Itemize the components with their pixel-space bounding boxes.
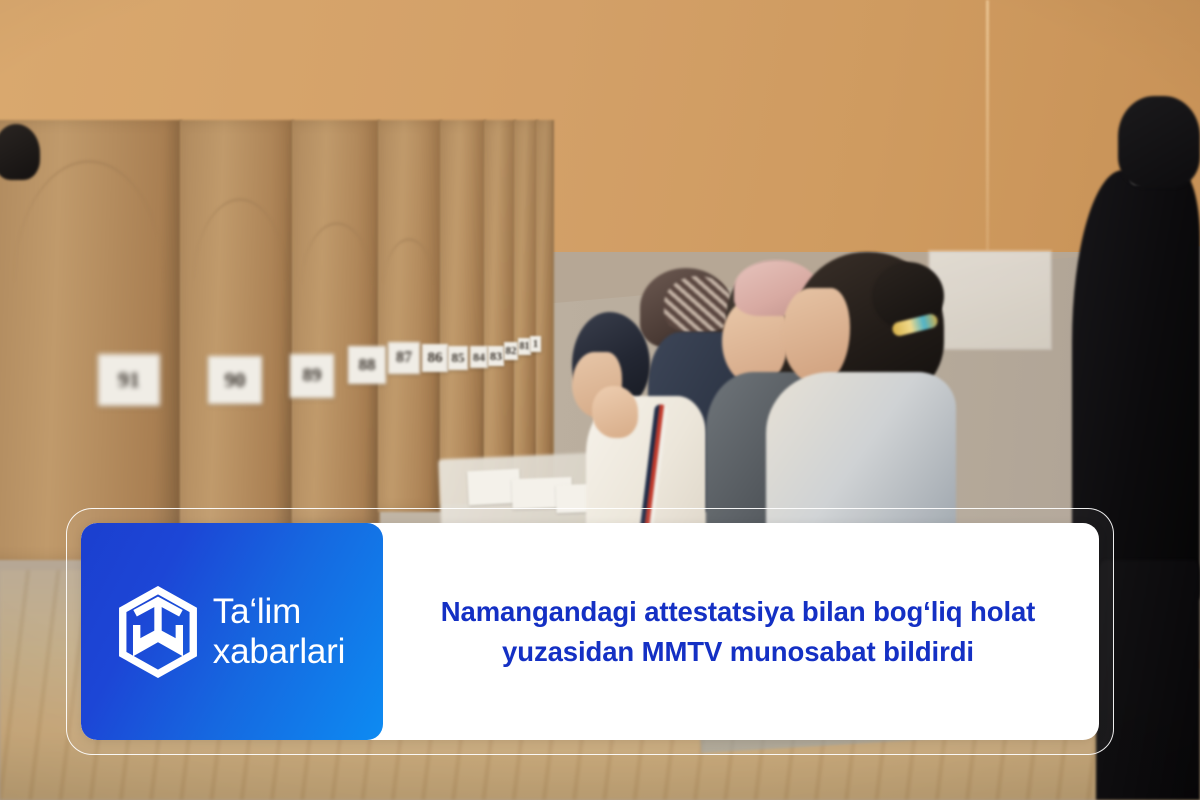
news-card[interactable]: Ta‘lim xabarlari Namangandagi attestatsi… (81, 523, 1099, 740)
headline-text[interactable]: Namangandagi attestatsiya bilan bog‘liq … (411, 592, 1065, 670)
wall-board (930, 252, 1050, 348)
brand-name-line2: xabarlari (213, 632, 345, 671)
person-bun-face (782, 288, 850, 384)
booth-number-tag: 82 (504, 342, 518, 360)
booth-number-tag: 86 (422, 344, 448, 372)
brand-name: Ta‘lim xabarlari (213, 592, 345, 670)
booth-number-tag: 91 (98, 354, 160, 406)
booth-number-tag: 1 (530, 336, 541, 352)
person-back-scarf (664, 276, 732, 332)
booth-number-tag: 84 (470, 346, 488, 368)
screenshot-stage: 91 90 89 88 87 86 85 84 83 82 81 1 (0, 0, 1200, 800)
cube-outline-icon (117, 586, 199, 678)
news-card-frame: Ta‘lim xabarlari Namangandagi attestatsi… (66, 508, 1114, 755)
brand-name-line1: Ta‘lim (213, 592, 345, 631)
booth-number-tag: 90 (208, 356, 262, 404)
booth-number-tag: 89 (290, 354, 334, 398)
person-hijab-hand (592, 386, 638, 438)
person-suit-head (1118, 96, 1200, 188)
headline-container: Namangandagi attestatsiya bilan bog‘liq … (383, 523, 1099, 740)
booth-number-tag: 83 (488, 346, 504, 366)
brand-panel[interactable]: Ta‘lim xabarlari (81, 523, 383, 740)
booth-number-tag: 88 (348, 346, 386, 384)
booth-number-tag: 85 (448, 346, 468, 370)
wall-seam (986, 0, 989, 250)
booth-number-tag: 87 (388, 342, 420, 374)
